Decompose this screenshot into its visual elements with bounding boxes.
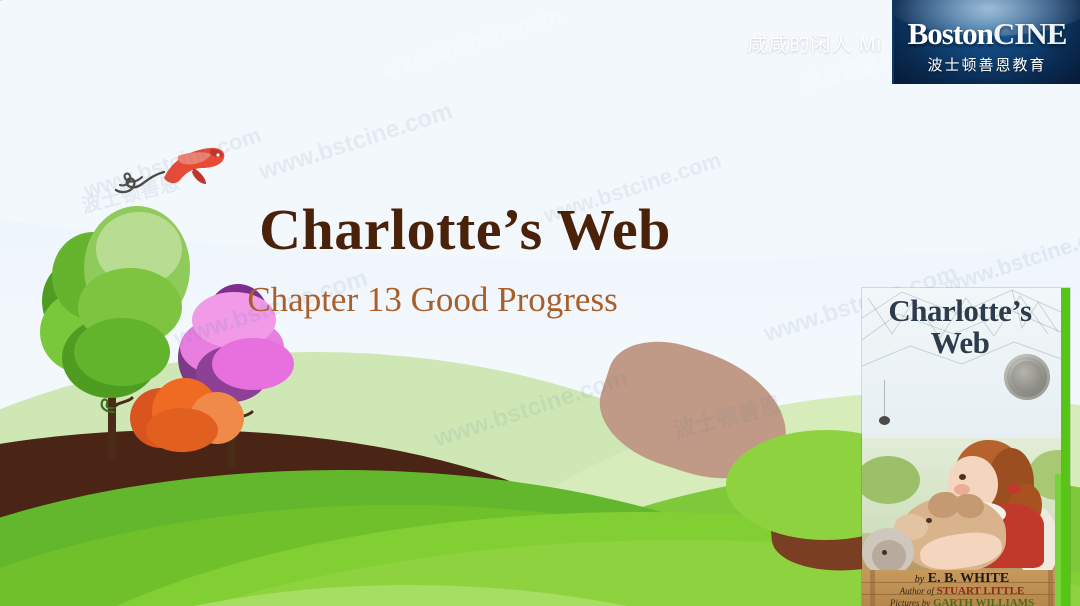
- girl-eye: [959, 474, 966, 480]
- bostoncine-logo[interactable]: BostonCINE 波士顿善恩教育: [892, 0, 1080, 84]
- book-title-text: Charlotte’s Web: [862, 296, 1058, 358]
- book-pictures-prefix: Pictures by: [890, 598, 930, 606]
- logo-brand-accent: CINE: [993, 16, 1067, 51]
- presentation-slide: www.bstcine.comwww.bstcine.comwww.bstcin…: [0, 0, 1080, 606]
- uploader-overlay-text: 咸咸的闲人 Mi: [747, 28, 882, 57]
- book-title-line1: Charlotte’s: [888, 293, 1031, 328]
- logo-chinese-text: 波士顿善恩教育: [894, 54, 1080, 75]
- logo-wordmark: BostonCINE: [894, 16, 1080, 52]
- newbery-medal-icon: [1004, 354, 1050, 400]
- book-by-prefix: by: [915, 574, 924, 585]
- logo-brand-main: Boston: [908, 16, 993, 51]
- book-other-work-credit: Author of STUART LITTLE: [862, 585, 1062, 597]
- slide-subtitle: Chapter 13 Good Progress: [0, 280, 865, 320]
- book-title-line2: Web: [862, 328, 1058, 358]
- medal-inner: [1011, 361, 1043, 393]
- girl-hairband: [1007, 484, 1021, 494]
- pig-ear-right: [956, 494, 984, 518]
- book-cover-image: Charlotte’s Web: [862, 288, 1070, 606]
- pink-tree-leaf-pink-bottom: [212, 338, 294, 390]
- slide-title: Charlotte’s Web: [0, 196, 930, 263]
- orange-bush-bottom: [146, 408, 218, 452]
- bird-trail-swirl-icon: [112, 160, 168, 198]
- pig-eye: [926, 518, 932, 523]
- book-green-edge-inner: [1055, 474, 1061, 606]
- book-green-edge: [1061, 288, 1070, 606]
- sheep-eye: [882, 550, 887, 555]
- spider-icon: [879, 416, 890, 425]
- sheep-face: [872, 540, 906, 572]
- pig-ear-left: [928, 492, 958, 518]
- book-author-name: E. B. WHITE: [928, 571, 1009, 586]
- book-other-work: STUART LITTLE: [937, 585, 1025, 597]
- green-tree-leaf-bottom: [74, 318, 170, 386]
- book-author-of-prefix: Author of: [900, 586, 934, 596]
- book-illustrator-credit: Pictures by GARTH WILLIAMS: [862, 597, 1062, 606]
- spider-thread: [884, 380, 885, 418]
- book-illustrator-name: GARTH WILLIAMS: [933, 597, 1034, 606]
